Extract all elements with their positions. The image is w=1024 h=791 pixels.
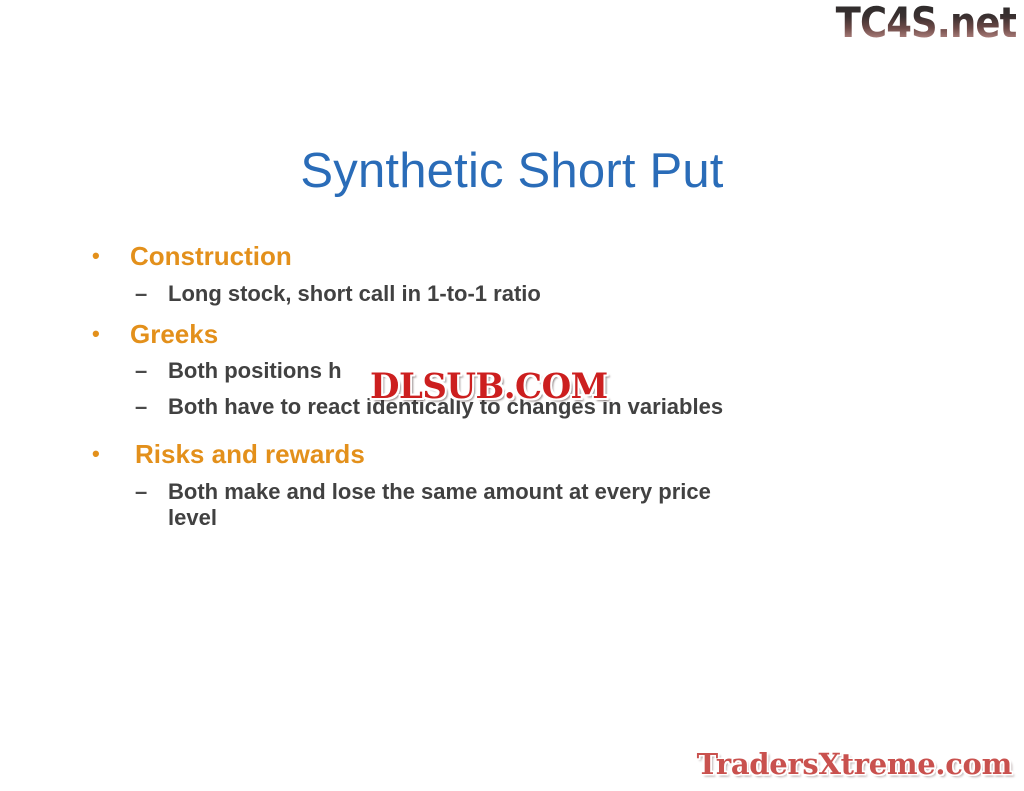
dash-marker-icon: – xyxy=(135,394,168,421)
dash-marker-icon: – xyxy=(135,479,168,506)
bullet-risks-and-rewards: • Risks and rewards xyxy=(92,439,792,470)
dash-marker-icon: – xyxy=(135,281,168,308)
bullet-label: Construction xyxy=(130,241,792,272)
slide-title: Synthetic Short Put xyxy=(0,145,1024,199)
subbullet-label: Both make and lose the same amount at ev… xyxy=(168,479,728,533)
bullet-label: Greeks xyxy=(130,319,792,350)
subbullet-long-stock-short-call: – Long stock, short call in 1-to-1 ratio xyxy=(92,281,792,308)
subbullet-label: Long stock, short call in 1-to-1 ratio xyxy=(168,281,728,308)
footer-brand-tradersxtreme: TradersXtreme.com xyxy=(697,750,1012,779)
bullet-greeks: • Greeks xyxy=(92,319,792,350)
bullet-label: Risks and rewards xyxy=(130,439,792,470)
bullet-dot-icon: • xyxy=(92,241,130,271)
bullet-dot-icon: • xyxy=(92,439,130,469)
subbullet-same-amount: – Both make and lose the same amount at … xyxy=(92,479,792,533)
brand-logo-tc4s: TC4S.net xyxy=(835,2,1016,44)
presentation-slide: TC4S.net Synthetic Short Put • Construct… xyxy=(0,0,1024,791)
watermark-dlsub: DLSUB.COM xyxy=(370,369,608,404)
bullet-construction: • Construction xyxy=(92,241,792,272)
bullet-dot-icon: • xyxy=(92,319,130,349)
dash-marker-icon: – xyxy=(135,358,168,385)
